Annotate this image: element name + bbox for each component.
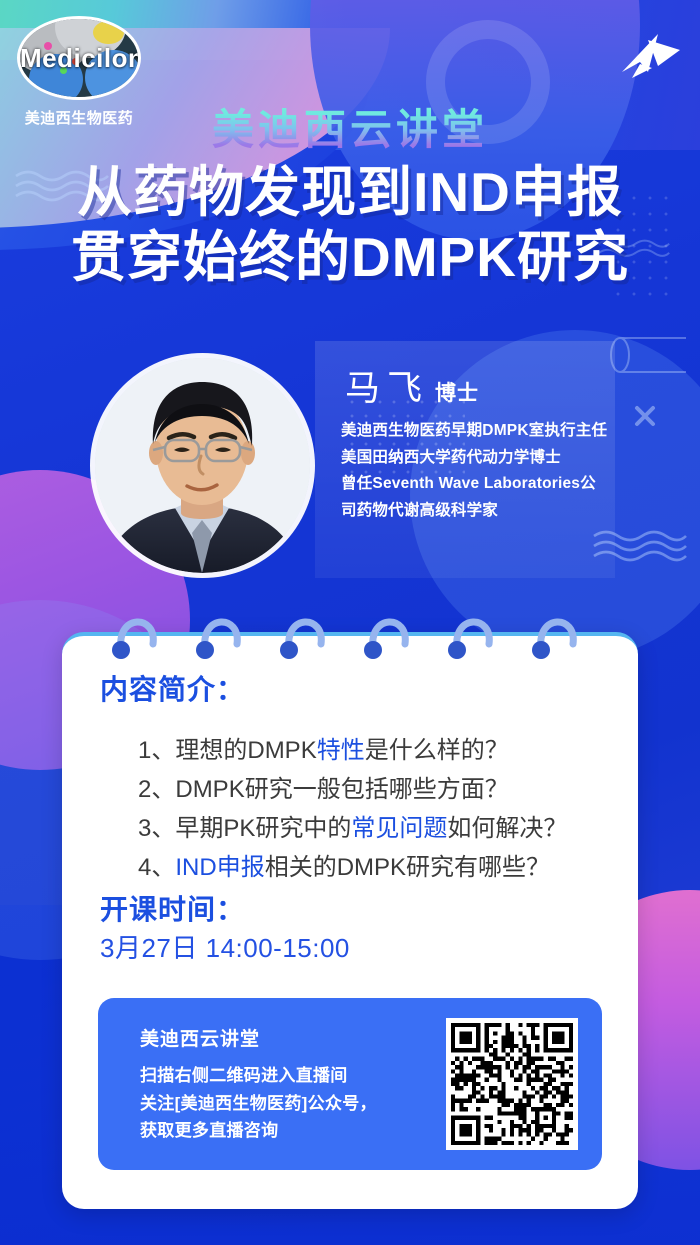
speaker-bio-line-3: 曾任Seventh Wave Laboratories公: [341, 471, 631, 498]
agenda-item-number: 1、: [138, 737, 175, 764]
agenda-item: 2、DMPK研究一般包括哪些方面？: [138, 771, 648, 810]
schedule-value: 3月27日 14:00-15:00: [100, 928, 350, 965]
speaker-name: 马飞: [345, 369, 429, 408]
speaker-bio-line-1: 美迪西生物医药早期DMPK室执行主任: [341, 418, 631, 445]
title-line-1: 从药物发现到IND申报: [0, 160, 700, 225]
speaker-bio: 美迪西生物医药早期DMPK室执行主任美国田纳西大学药代动力学博士曾任Sevent…: [341, 418, 631, 525]
cta-line-3: 获取更多直播咨询: [140, 1117, 440, 1145]
page-title: 从药物发现到IND申报 贯穿始终的DMPK研究: [0, 160, 700, 290]
cta-instructions: 扫描右侧二维码进入直播间关注[美迪西生物医药]公众号，获取更多直播咨询: [140, 1062, 440, 1145]
speaker-title: 博士: [435, 382, 479, 405]
medicilon-cell-logo-icon: Medicilon: [17, 16, 141, 100]
agenda-item: 3、早期PK研究中的常见问题如何解决？: [138, 810, 648, 849]
agenda-item-number: 2、: [138, 776, 175, 803]
agenda-item: 4、IND申报相关的DMPK研究有哪些？: [138, 849, 648, 888]
agenda-text: 是什么样的？: [365, 737, 509, 764]
cta-title: 美迪西云讲堂: [140, 1024, 260, 1051]
speaker-portrait: [95, 358, 310, 573]
brand-logo: Medicilon 美迪西生物医药: [14, 16, 144, 128]
agenda-text: DMPK研究一般包括哪些方面？: [175, 776, 508, 803]
agenda-item: 1、理想的DMPK特性是什么样的？: [138, 732, 648, 771]
title-line-2: 贯穿始终的DMPK研究: [0, 225, 700, 290]
cta-line-1: 扫描右侧二维码进入直播间: [140, 1062, 440, 1090]
agenda-text: 相关的DMPK研究有哪些？: [265, 854, 550, 881]
cta-line-2: 关注[美迪西生物医药]公众号，: [140, 1090, 440, 1118]
spiral-binding-icon: [0, 604, 700, 664]
agenda-highlight: 常见问题: [351, 815, 447, 842]
webinar-poster: Medicilon 美迪西生物医药 美迪西云讲堂 从药物发现到IND申报 贯穿始…: [0, 0, 700, 1245]
content-heading: 内容简介：: [100, 668, 245, 708]
paper-plane-icon: [618, 28, 682, 80]
agenda-text: 早期PK研究中的: [175, 815, 351, 842]
agenda-text: 理想的DMPK: [175, 737, 316, 764]
agenda-item-number: 4、: [138, 854, 175, 881]
qr-code[interactable]: [446, 1018, 578, 1150]
agenda-highlight: 特性: [317, 737, 365, 764]
agenda-item-number: 3、: [138, 815, 175, 842]
content-card: 内容简介： 1、理想的DMPK特性是什么样的？2、DMPK研究一般包括哪些方面？…: [62, 632, 638, 1209]
logo-chinese-name: 美迪西生物医药: [14, 107, 144, 128]
x-mark-icon: [634, 405, 656, 427]
schedule-heading: 开课时间：: [100, 888, 245, 928]
speaker-name-row: 马飞博士: [345, 360, 479, 411]
logo-wordmark: Medicilon: [20, 43, 138, 74]
speaker-bio-line-2: 美国田纳西大学药代动力学博士: [341, 445, 631, 472]
avatar: [95, 358, 310, 573]
speaker-bio-line-4: 司药物代谢高级科学家: [341, 498, 631, 525]
cta-panel: 美迪西云讲堂 扫描右侧二维码进入直播间关注[美迪西生物医药]公众号，获取更多直播…: [98, 998, 602, 1170]
agenda-text: 如何解决？: [447, 815, 567, 842]
agenda-list: 1、理想的DMPK特性是什么样的？2、DMPK研究一般包括哪些方面？3、早期PK…: [98, 732, 648, 888]
agenda-highlight: IND申报: [175, 854, 264, 881]
